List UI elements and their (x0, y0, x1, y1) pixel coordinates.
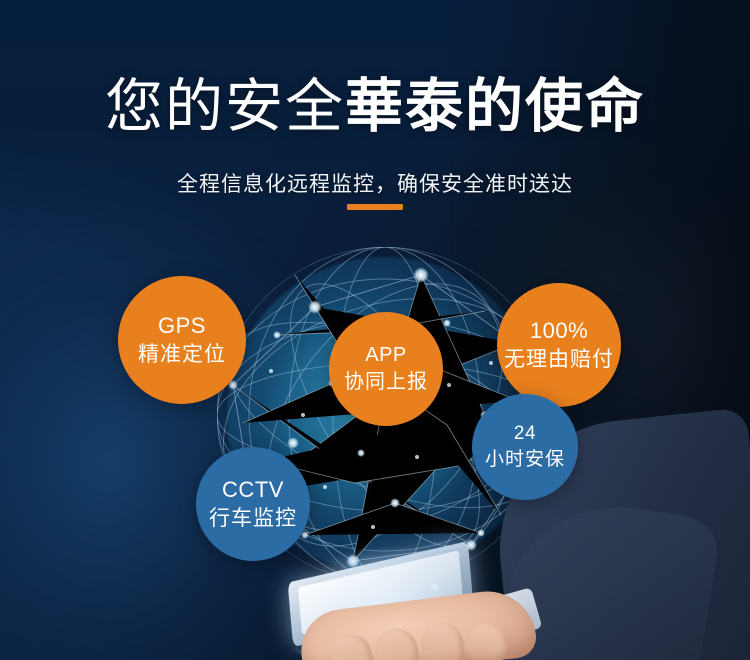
page-subtitle: 全程信息化远程监控，确保安全准时送达 (0, 168, 750, 198)
feature-bubble-cctv[interactable]: CCTV 行车监控 (196, 447, 310, 561)
title-divider (347, 204, 403, 210)
feature-bubble-gps[interactable]: GPS 精准定位 (118, 276, 246, 404)
promo-banner: 您的安全華泰的使命 全程信息化远程监控，确保安全准时送达 GPS 精准定位 AP… (0, 0, 750, 660)
feature-label-en: APP (365, 342, 407, 369)
title-light-part: 您的安全 (105, 74, 345, 139)
feature-label-cn: 小时安保 (485, 447, 565, 473)
feature-bubble-security[interactable]: 24 小时安保 (472, 394, 578, 500)
feature-label-en: CCTV (222, 475, 284, 505)
feature-label-cn: 无理由赔付 (504, 346, 614, 374)
feature-bubble-app[interactable]: APP 协同上报 (329, 312, 443, 426)
feature-bubble-refund[interactable]: 100% 无理由赔付 (497, 283, 621, 407)
feature-label-cn: 行车监控 (209, 505, 297, 533)
title-bold-part: 華泰的使命 (345, 74, 645, 139)
page-title: 您的安全華泰的使命 (0, 78, 750, 136)
feature-label-cn: 协同上报 (344, 369, 428, 396)
feature-label-en: 100% (530, 316, 588, 346)
feature-label-cn: 精准定位 (138, 341, 226, 369)
feature-label-en: 24 (514, 421, 536, 447)
feature-label-en: GPS (158, 311, 206, 341)
